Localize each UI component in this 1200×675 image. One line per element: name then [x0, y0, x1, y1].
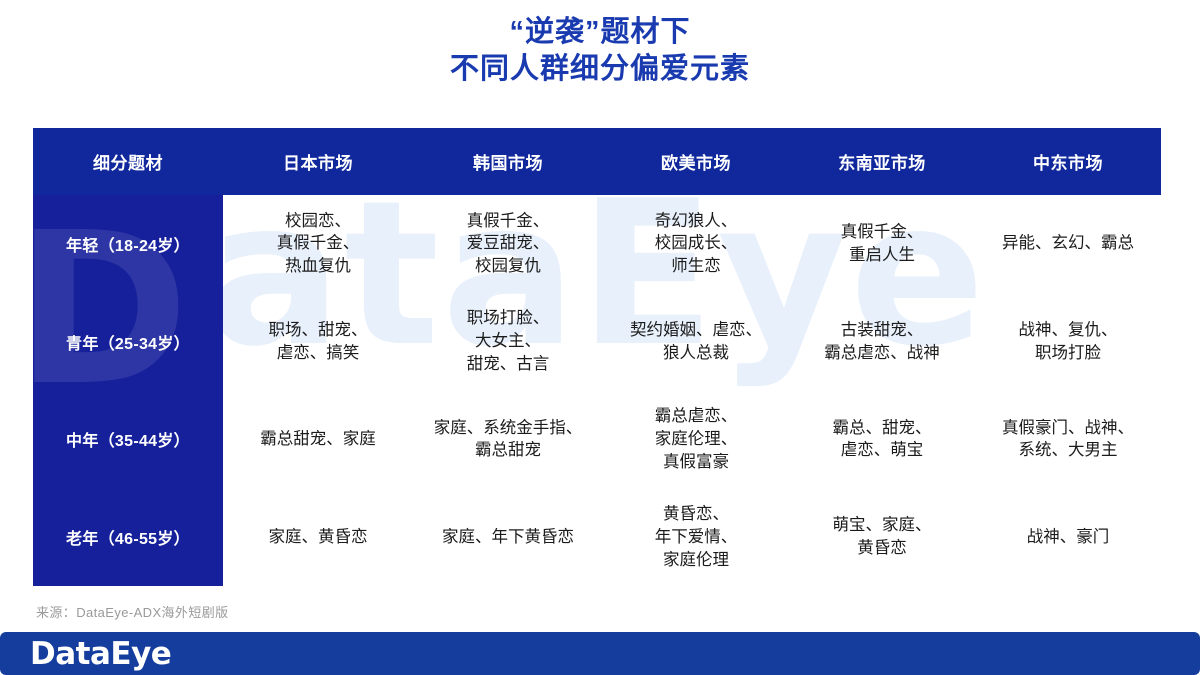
table-cell-r3-sea: 萌宝、家庭、 黄昏恋 — [789, 488, 975, 586]
table-row: 霸总甜宠、家庭 家庭、系统金手指、 霸总甜宠 霸总虐恋、 家庭伦理、 真假富豪 … — [223, 391, 1161, 489]
table-header-cell-4: 东南亚市场 — [789, 128, 975, 195]
table-row: 职场、甜宠、 虐恋、搞笑 职场打脸、 大女主、 甜宠、古言 契约婚姻、虐恋、 狼… — [223, 293, 1161, 391]
table-cell-r3-korea: 家庭、年下黄昏恋 — [413, 488, 603, 586]
footer-logo-bar: DataEye — [0, 632, 1200, 675]
table-cell-r1-euro-us: 契约婚姻、虐恋、 狼人总裁 — [603, 293, 789, 391]
table-cell-r1-korea: 职场打脸、 大女主、 甜宠、古言 — [413, 293, 603, 391]
table-header-cell-0: 细分题材 — [33, 128, 223, 195]
table-cell-r1-middleeast: 战神、复仇、 职场打脸 — [975, 293, 1161, 391]
table-cell-r0-korea: 真假千金、 爱豆甜宠、 校园复仇 — [413, 195, 603, 293]
table-cell-r2-korea: 家庭、系统金手指、 霸总甜宠 — [413, 391, 603, 489]
table-header-row: 细分题材 日本市场 韩国市场 欧美市场 东南亚市场 中东市场 — [33, 128, 1161, 195]
table-cell-r1-japan: 职场、甜宠、 虐恋、搞笑 — [223, 293, 413, 391]
table-cell-r2-sea: 霸总、甜宠、 虐恋、萌宝 — [789, 391, 975, 489]
dataeye-logo: DataEye — [30, 636, 171, 672]
source-note: 来源：DataEye-ADX海外短剧版 — [36, 602, 229, 621]
table-cell-r0-middleeast: 异能、玄幻、霸总 — [975, 195, 1161, 293]
table-cell-r2-euro-us: 霸总虐恋、 家庭伦理、 真假富豪 — [603, 391, 789, 489]
table-cell-r3-japan: 家庭、黄昏恋 — [223, 488, 413, 586]
table-row: 家庭、黄昏恋 家庭、年下黄昏恋 黄昏恋、 年下爱情、 家庭伦理 萌宝、家庭、 黄… — [223, 488, 1161, 586]
page-title-line-2: 不同人群细分偏爱元素 — [0, 51, 1200, 88]
table-cell-r3-middleeast: 战神、豪门 — [975, 488, 1161, 586]
table-row-label-0: 年轻（18-24岁） — [33, 195, 223, 293]
table-cell-r3-euro-us: 黄昏恋、 年下爱情、 家庭伦理 — [603, 488, 789, 586]
table-cell-r0-euro-us: 奇幻狼人、 校园成长、 师生恋 — [603, 195, 789, 293]
table-row-label-3: 老年（46-55岁） — [33, 488, 223, 586]
page-title-line-1: “逆袭”题材下 — [0, 14, 1200, 51]
table-cell-r0-japan: 校园恋、 真假千金、 热血复仇 — [223, 195, 413, 293]
table-row-label-1: 青年（25-34岁） — [33, 293, 223, 391]
preference-elements-table: DataEye 细分题材 日本市场 韩国市场 欧美市场 东南亚市场 中东市场 D… — [33, 128, 1161, 586]
table-cell-r1-sea: 古装甜宠、 霸总虐恋、战神 — [789, 293, 975, 391]
table-cell-r0-sea: 真假千金、 重启人生 — [789, 195, 975, 293]
table-row: 校园恋、 真假千金、 热血复仇 真假千金、 爱豆甜宠、 校园复仇 奇幻狼人、 校… — [223, 195, 1161, 293]
table-header-cell-5: 中东市场 — [975, 128, 1161, 195]
table-row-label-column: D 年轻（18-24岁） 青年（25-34岁） 中年（35-44岁） 老年（46… — [33, 195, 223, 586]
table-cell-r2-japan: 霸总甜宠、家庭 — [223, 391, 413, 489]
table-row-label-2: 中年（35-44岁） — [33, 391, 223, 489]
page-title: “逆袭”题材下 不同人群细分偏爱元素 — [0, 14, 1200, 88]
table-cell-r2-middleeast: 真假豪门、战神、 系统、大男主 — [975, 391, 1161, 489]
table-header-cell-2: 韩国市场 — [413, 128, 603, 195]
table-header-cell-3: 欧美市场 — [603, 128, 789, 195]
table-header-cell-1: 日本市场 — [223, 128, 413, 195]
table-body: 校园恋、 真假千金、 热血复仇 真假千金、 爱豆甜宠、 校园复仇 奇幻狼人、 校… — [223, 195, 1161, 586]
